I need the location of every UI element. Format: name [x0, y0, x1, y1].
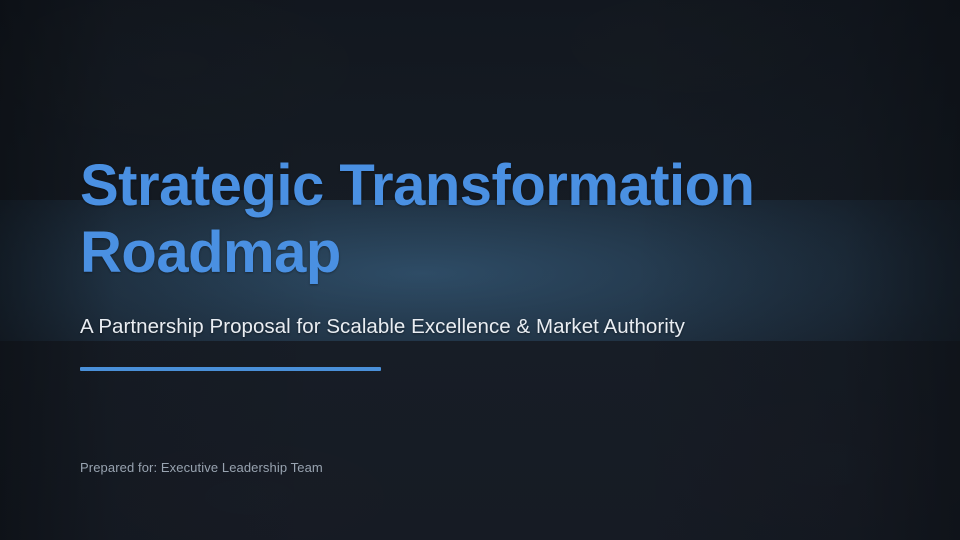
- accent-divider-bar: [80, 367, 381, 371]
- slide-content: Strategic Transformation Roadmap A Partn…: [0, 0, 960, 540]
- title-slide: Strategic Transformation Roadmap A Partn…: [0, 0, 960, 540]
- slide-title: Strategic Transformation Roadmap: [80, 152, 840, 286]
- slide-subtitle: A Partnership Proposal for Scalable Exce…: [80, 313, 685, 341]
- prepared-for-note: Prepared for: Executive Leadership Team: [80, 459, 323, 477]
